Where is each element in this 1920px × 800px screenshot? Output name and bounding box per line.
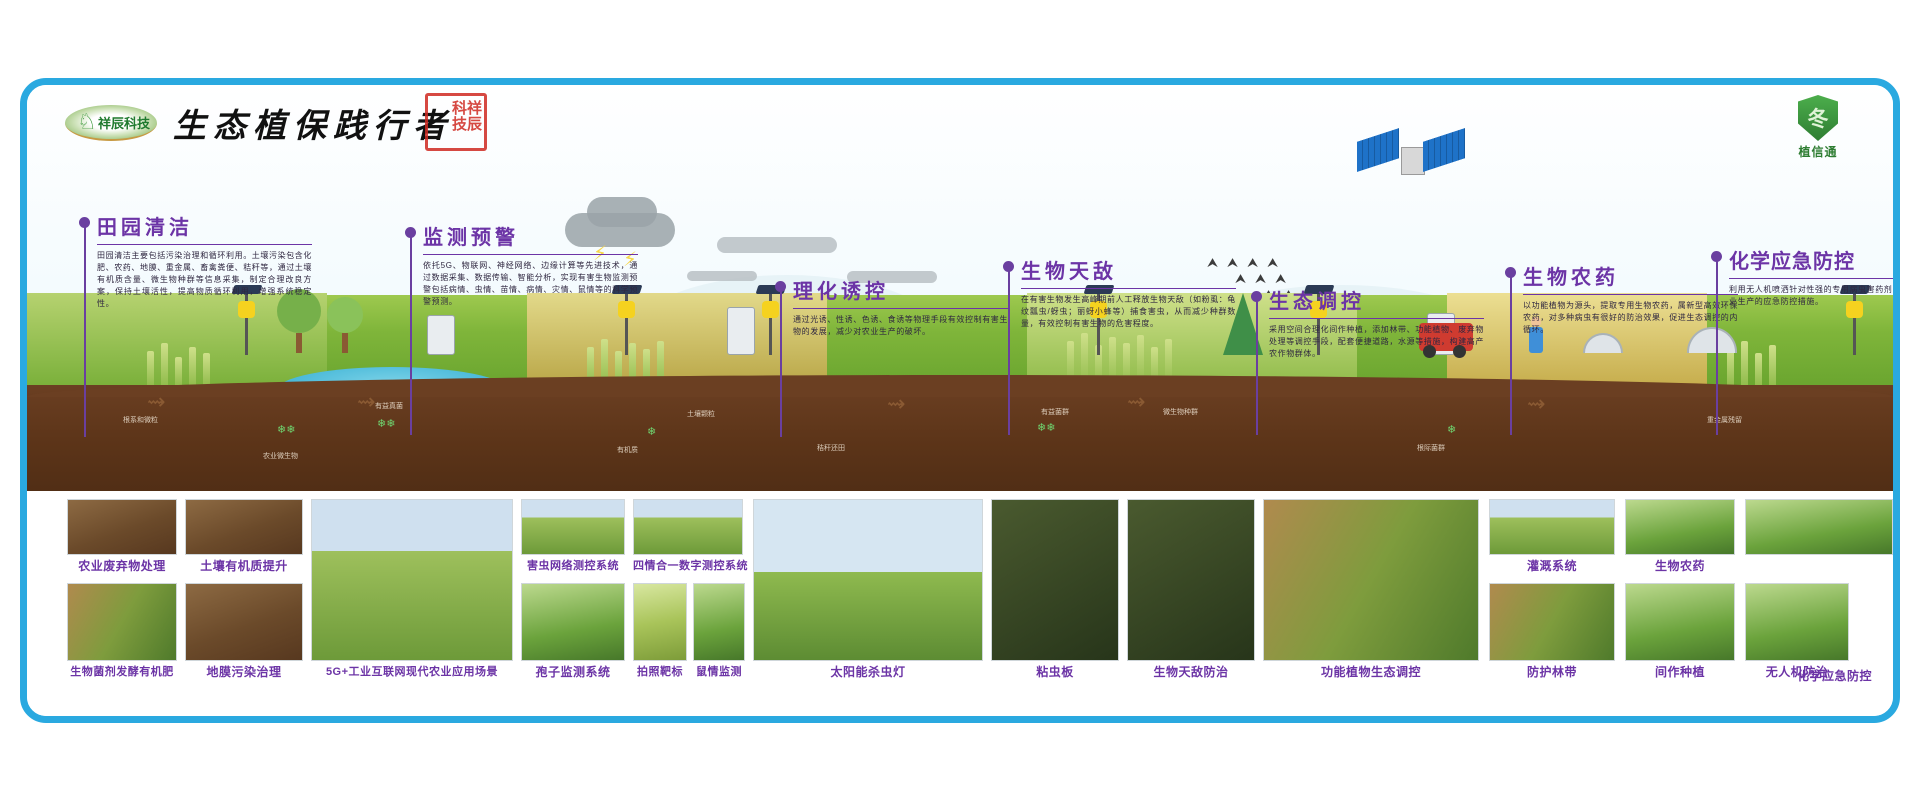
butterfly-leaf-icon: ♘ 祥辰科技 <box>65 105 157 141</box>
gallery-photo <box>185 499 303 555</box>
section-callout-lihua-youkong[interactable]: 理化诱控 通过光诱、性诱、色诱、食诱等物理手段有效控制有害生物的发展，减少对农业… <box>793 275 1008 338</box>
gallery-photo <box>521 583 625 661</box>
gallery-photo <box>67 583 177 661</box>
gallery-caption: 孢子监测系统 <box>521 663 625 680</box>
callout-stem <box>1008 271 1010 435</box>
poster-frame: ♘ 祥辰科技 生态植保践行者 祥辰科技 冬 植信通 ⚡ ⚡ ❰ ❰ ⮝⮝⮝⮝ ⮝… <box>20 78 1900 723</box>
callout-stem <box>780 291 782 437</box>
gallery-caption: 害虫网络测控系统 <box>521 557 625 573</box>
gallery-photo <box>1745 499 1893 555</box>
soil-label: 微生物种群 <box>1163 407 1198 417</box>
gallery-item[interactable]: 生物菌剂发酵有机肥 <box>67 583 177 679</box>
section-body: 以功能植物为源头，提取专用生物农药，属新型高效环保农药，对多种病虫有很好的防治效… <box>1523 300 1738 336</box>
section-title: 生物农药 <box>1523 261 1738 295</box>
gallery-caption: 粘虫板 <box>991 663 1119 680</box>
section-callout-jiance-yujing[interactable]: 监测预警 依托5G、物联网、神经网络、边缘计算等先进技术，通过数据采集、数据传输… <box>423 221 638 308</box>
gallery-caption: 生物天敌防治 <box>1127 663 1255 680</box>
gallery-caption: 5G+工业互联网现代农业应用场景 <box>311 663 513 679</box>
microbe-icon: ❄❄ <box>1037 421 1055 434</box>
callout-stem <box>84 227 86 437</box>
gallery-caption: 土壤有机质提升 <box>185 557 303 574</box>
section-callout-huaxue-yingji[interactable]: 化学应急防控 利用无人机喷洒针对性强的专用病虫害药剂，作为保证农业生产的应急防控… <box>1729 245 1893 308</box>
root-icon: ⇝ <box>1527 391 1545 417</box>
section-callout-tianyuan-qingjie[interactable]: 田园清洁 田园清洁主要包括污染治理和循环利用。土壤污染包含化肥、农药、地膜、重金… <box>97 211 312 310</box>
right-logo-text: 植信通 <box>1785 143 1851 160</box>
microbe-icon: ❄❄ <box>277 423 295 436</box>
gallery-caption: 防护林带 <box>1489 663 1615 680</box>
microbe-icon: ❄ <box>1447 423 1456 436</box>
soil-label: 有机质 <box>617 445 638 455</box>
microbe-icon: ❄ <box>647 425 656 438</box>
root-icon: ⇝ <box>1127 389 1145 415</box>
section-body: 采用空间合理化间作种植，添加林带、功能植物、废弃物处理等调控手段，配套便捷道路，… <box>1269 324 1484 360</box>
gallery-photo <box>1489 583 1615 661</box>
section-title: 理化诱控 <box>793 275 1008 309</box>
soil-label: 土壤颗粒 <box>687 409 715 419</box>
solar-lamp-icon <box>769 293 772 355</box>
gallery-caption: 鼠情监测 <box>693 663 745 679</box>
section-callout-shengwu-nongyao[interactable]: 生物农药 以功能植物为源头，提取专用生物农药，属新型高效环保农药，对多种病虫有很… <box>1523 261 1738 336</box>
soil-label: 有益菌群 <box>1041 407 1069 417</box>
root-icon: ⇝ <box>147 389 165 415</box>
section-title: 田园清洁 <box>97 211 312 245</box>
brand-lockup: ♘ 祥辰科技 生态植保践行者 <box>65 99 453 147</box>
photo-gallery: CJ 农业废弃物处理 土壤有机质提升 生物菌剂发酵有机肥 地膜污染治理 5G+工… <box>27 491 1893 716</box>
soil-label: 根系和微粒 <box>123 415 158 425</box>
red-seal-stamp: 祥辰科技 <box>425 93 487 151</box>
gallery-item[interactable]: 鼠情监测 <box>693 583 745 679</box>
brand-logo-text: 祥辰科技 <box>98 113 150 132</box>
gallery-item[interactable]: 间作种植 <box>1625 583 1735 680</box>
gallery-caption: 太阳能杀虫灯 <box>753 663 983 680</box>
gallery-photo <box>1625 583 1735 661</box>
soil-label: 根际菌群 <box>1417 443 1445 453</box>
section-body: 利用无人机喷洒针对性强的专用病虫害药剂，作为保证农业生产的应急防控措施。 <box>1729 284 1893 308</box>
tree-icon <box>327 297 363 353</box>
gallery-item[interactable]: 无人机防治 <box>1745 583 1849 680</box>
gallery-photo <box>991 499 1119 661</box>
gallery-item[interactable]: 孢子监测系统 <box>521 583 625 680</box>
soil-label: 农业微生物 <box>263 451 298 461</box>
soil-layer: ⇝ ⇝ ⇝ ⇝ ⇝ ❄❄ ❄❄ ❄ ❄❄ ❄ 根系和微粒 农业微生物 有益真菌 … <box>27 385 1893 505</box>
gallery-caption: 生物菌剂发酵有机肥 <box>67 663 177 679</box>
cloud <box>687 271 757 281</box>
callout-stem <box>1256 301 1258 435</box>
cloud <box>717 237 837 253</box>
root-icon: ⇝ <box>357 389 375 415</box>
section-title: 监测预警 <box>423 221 638 255</box>
gallery-caption: 功能植物生态调控 <box>1263 663 1479 680</box>
crop-row <box>147 317 210 387</box>
gallery-caption: 灌溉系统 <box>1489 557 1615 574</box>
gallery-caption: 化学应急防控 <box>1797 667 1872 684</box>
gallery-caption: 四情合一数字测控系统 <box>633 557 743 573</box>
gallery-item[interactable]: 拍照靶标 <box>633 583 687 679</box>
butterfly-glyph: ♘ <box>77 109 97 135</box>
gallery-photo <box>633 499 743 555</box>
gallery-photo <box>1127 499 1255 661</box>
gallery-item[interactable]: 太阳能杀虫灯 <box>753 499 983 680</box>
gallery-item[interactable]: 防护林带 <box>1489 583 1615 680</box>
callout-stem <box>410 237 412 435</box>
monitor-cabinet-icon <box>427 315 455 355</box>
zhixintong-logo: 冬 植信通 <box>1785 95 1851 160</box>
gallery-caption: 间作种植 <box>1625 663 1735 680</box>
section-callout-shengwu-tiandi[interactable]: 生物天敌 在有害生物发生高峰期前人工释放生物天敌（如粉虱：龟纹瓢虫/蚜虫；丽蚜小… <box>1021 255 1236 330</box>
gallery-photo <box>1489 499 1615 555</box>
microbe-icon: ❄❄ <box>377 417 395 430</box>
section-title: 化学应急防控 <box>1729 245 1893 279</box>
gallery-item[interactable]: 害虫网络测控系统 <box>521 499 625 573</box>
poster-header: ♘ 祥辰科技 生态植保践行者 祥辰科技 冬 植信通 <box>27 85 1893 155</box>
soil-label: 秸秆还田 <box>817 443 845 453</box>
section-title: 生物天敌 <box>1021 255 1236 289</box>
gallery-item[interactable]: 地膜污染治理 <box>185 583 303 680</box>
gallery-photo <box>1745 583 1849 661</box>
gallery-photo <box>753 499 983 661</box>
gallery-photo <box>67 499 177 555</box>
callout-stem <box>1510 277 1512 435</box>
root-icon: ⇝ <box>887 391 905 417</box>
page-title: 生态植保践行者 <box>173 99 453 147</box>
soil-label: 重金属残留 <box>1707 415 1742 425</box>
section-body: 在有害生物发生高峰期前人工释放生物天敌（如粉虱：龟纹瓢虫/蚜虫；丽蚜小蜂等）捕食… <box>1021 294 1236 330</box>
gallery-photo <box>1625 499 1735 555</box>
soil-label: 有益真菌 <box>375 401 403 411</box>
monitor-cabinet-icon <box>727 307 755 355</box>
shield-icon: 冬 <box>1798 95 1838 141</box>
gallery-caption: 农业废弃物处理 <box>67 557 177 574</box>
gallery-item[interactable]: 土壤有机质提升 <box>185 499 303 574</box>
gallery-item[interactable]: 粘虫板 <box>991 499 1119 680</box>
gallery-item[interactable]: 农业废弃物处理 <box>67 499 177 574</box>
gallery-caption: 地膜污染治理 <box>185 663 303 680</box>
gallery-item[interactable]: 四情合一数字测控系统 <box>633 499 743 573</box>
gallery-photo <box>633 583 687 661</box>
gallery-photo <box>311 499 513 661</box>
section-body: 通过光诱、性诱、色诱、食诱等物理手段有效控制有害生物的发展，减少对农业生产的破坏… <box>793 314 1008 338</box>
callout-stem <box>1716 261 1718 435</box>
section-callout-shengtai-tiaokong[interactable]: 生态调控 采用空间合理化间作种植，添加林带、功能植物、废弃物处理等调控手段，配套… <box>1269 285 1484 360</box>
gallery-item[interactable]: 功能植物生态调控 <box>1263 499 1479 680</box>
gallery-caption: 拍照靶标 <box>633 663 687 679</box>
gallery-item[interactable]: 生物天敌防治 <box>1127 499 1255 680</box>
section-title: 生态调控 <box>1269 285 1484 319</box>
gallery-item[interactable]: 灌溉系统 <box>1489 499 1615 574</box>
section-body: 依托5G、物联网、神经网络、边缘计算等先进技术，通过数据采集、数据传输、智能分析… <box>423 260 638 308</box>
gallery-photo <box>185 583 303 661</box>
gallery-photo <box>693 583 745 661</box>
gallery-item[interactable] <box>1745 499 1893 555</box>
gallery-photo <box>521 499 625 555</box>
gallery-item[interactable]: 生物农药 <box>1625 499 1735 574</box>
section-body: 田园清洁主要包括污染治理和循环利用。土壤污染包含化肥、农药、地膜、重金属、畜禽粪… <box>97 250 312 310</box>
gallery-photo <box>1263 499 1479 661</box>
gallery-caption: 生物农药 <box>1625 557 1735 574</box>
gallery-item[interactable]: 5G+工业互联网现代农业应用场景 <box>311 499 513 679</box>
